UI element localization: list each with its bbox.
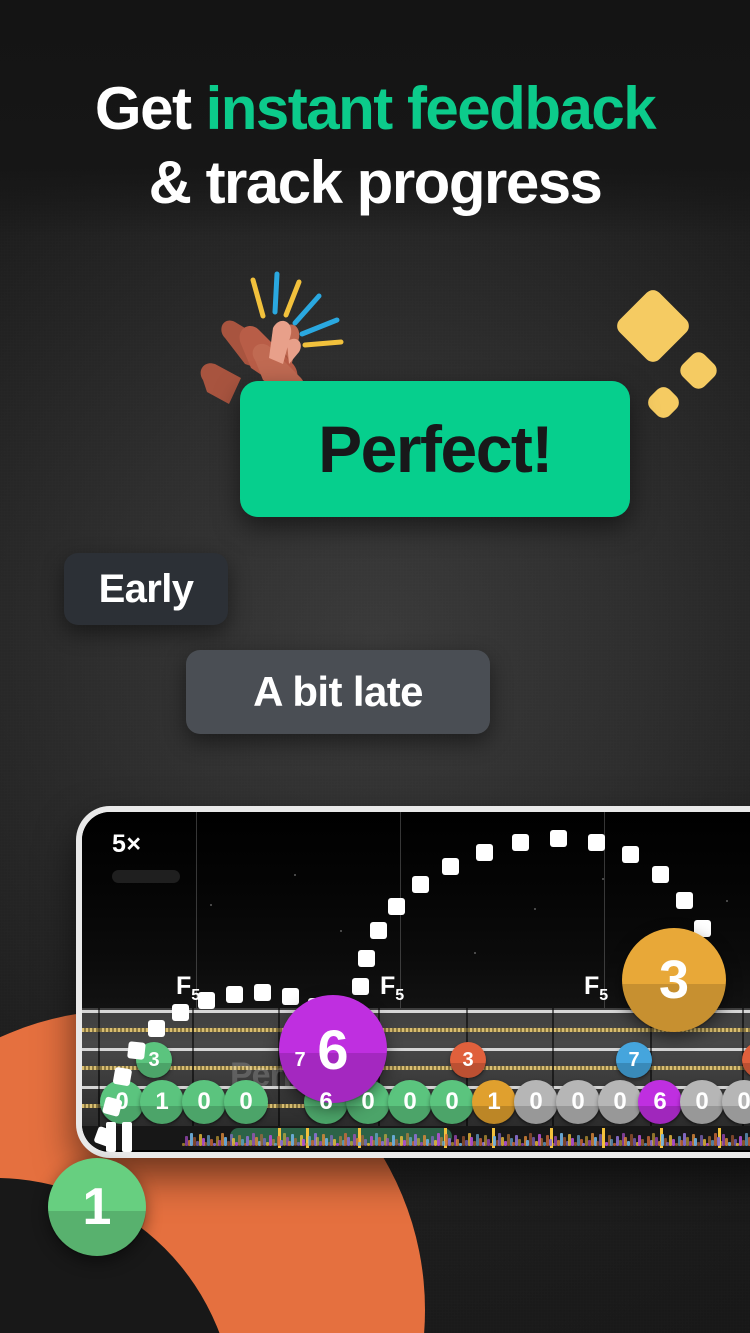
score-bubble-green: 1 bbox=[48, 1158, 146, 1256]
fret-note-circle: 3 bbox=[136, 1042, 172, 1078]
fret-note-circle: 0 bbox=[598, 1080, 642, 1124]
diamond-icon-medium bbox=[677, 349, 721, 393]
headline-line-2: & track progress bbox=[0, 146, 750, 220]
fret-note-circle: 0 bbox=[388, 1080, 432, 1124]
fret-note-circle: 0 bbox=[514, 1080, 558, 1124]
fret-note-circle: 3 bbox=[450, 1042, 486, 1078]
score-multiplier: 5× bbox=[112, 830, 142, 859]
fret-note-circle: 0 bbox=[100, 1080, 144, 1124]
pause-icon[interactable] bbox=[106, 1122, 140, 1152]
fret-note-circle: 0 bbox=[430, 1080, 474, 1124]
song-timeline[interactable] bbox=[82, 1126, 750, 1150]
fret-note-circle: 0 bbox=[556, 1080, 600, 1124]
headline-prefix: Get bbox=[95, 75, 206, 142]
promo-screen: Get instant feedback & track progress Pe… bbox=[0, 0, 750, 1333]
headline-line-1: Get instant feedback bbox=[0, 72, 750, 146]
diamond-icon-small bbox=[644, 383, 682, 421]
fret-note-circle: 1 bbox=[140, 1080, 184, 1124]
headline-highlight: instant feedback bbox=[206, 75, 655, 142]
fret-note-circle: 0 bbox=[182, 1080, 226, 1124]
score-bubble-gold: 3 bbox=[622, 928, 726, 1032]
fret-note-circle: 0 bbox=[224, 1080, 268, 1124]
note-label-f5-3: F5 bbox=[584, 972, 608, 1005]
note-label-f5-2: F5 bbox=[380, 972, 404, 1005]
diamond-icon-large bbox=[613, 286, 692, 365]
feedback-chip-early: Early bbox=[64, 553, 228, 625]
page-title: Get instant feedback & track progress bbox=[0, 72, 750, 220]
fret-note-circle: 7 bbox=[616, 1042, 652, 1078]
multiplier-progress-bar bbox=[112, 870, 180, 883]
fret-note-circle: 0 bbox=[680, 1080, 724, 1124]
feedback-chip-perfect: Perfect! bbox=[240, 381, 630, 517]
note-label-f5-1: F5 bbox=[176, 972, 200, 1005]
feedback-chip-late: A bit late bbox=[186, 650, 490, 734]
fret-note-circle: 6 bbox=[638, 1080, 682, 1124]
fret-note-circle: 1 bbox=[472, 1080, 516, 1124]
